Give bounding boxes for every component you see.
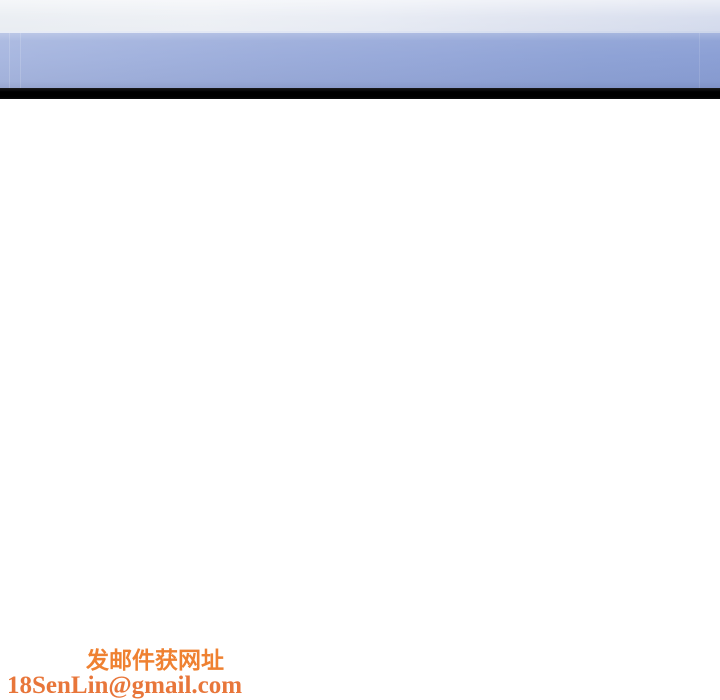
header-seam-line [699,33,700,88]
header-top-pale-band [0,0,720,31]
watermark-chinese-text: 发邮件获网址 [0,649,260,672]
header-black-rule [0,88,720,99]
slide-header-banner [0,0,720,100]
watermark-email-text: 18SenLin@gmail.com [0,673,260,698]
header-seam-line [20,33,21,88]
slide-body-blank-area [0,99,720,700]
slide-page: 发邮件获网址 18SenLin@gmail.com [0,0,720,700]
watermark: 发邮件获网址 18SenLin@gmail.com [0,649,260,698]
header-seam-line [9,33,10,88]
header-blue-bar [0,33,720,88]
